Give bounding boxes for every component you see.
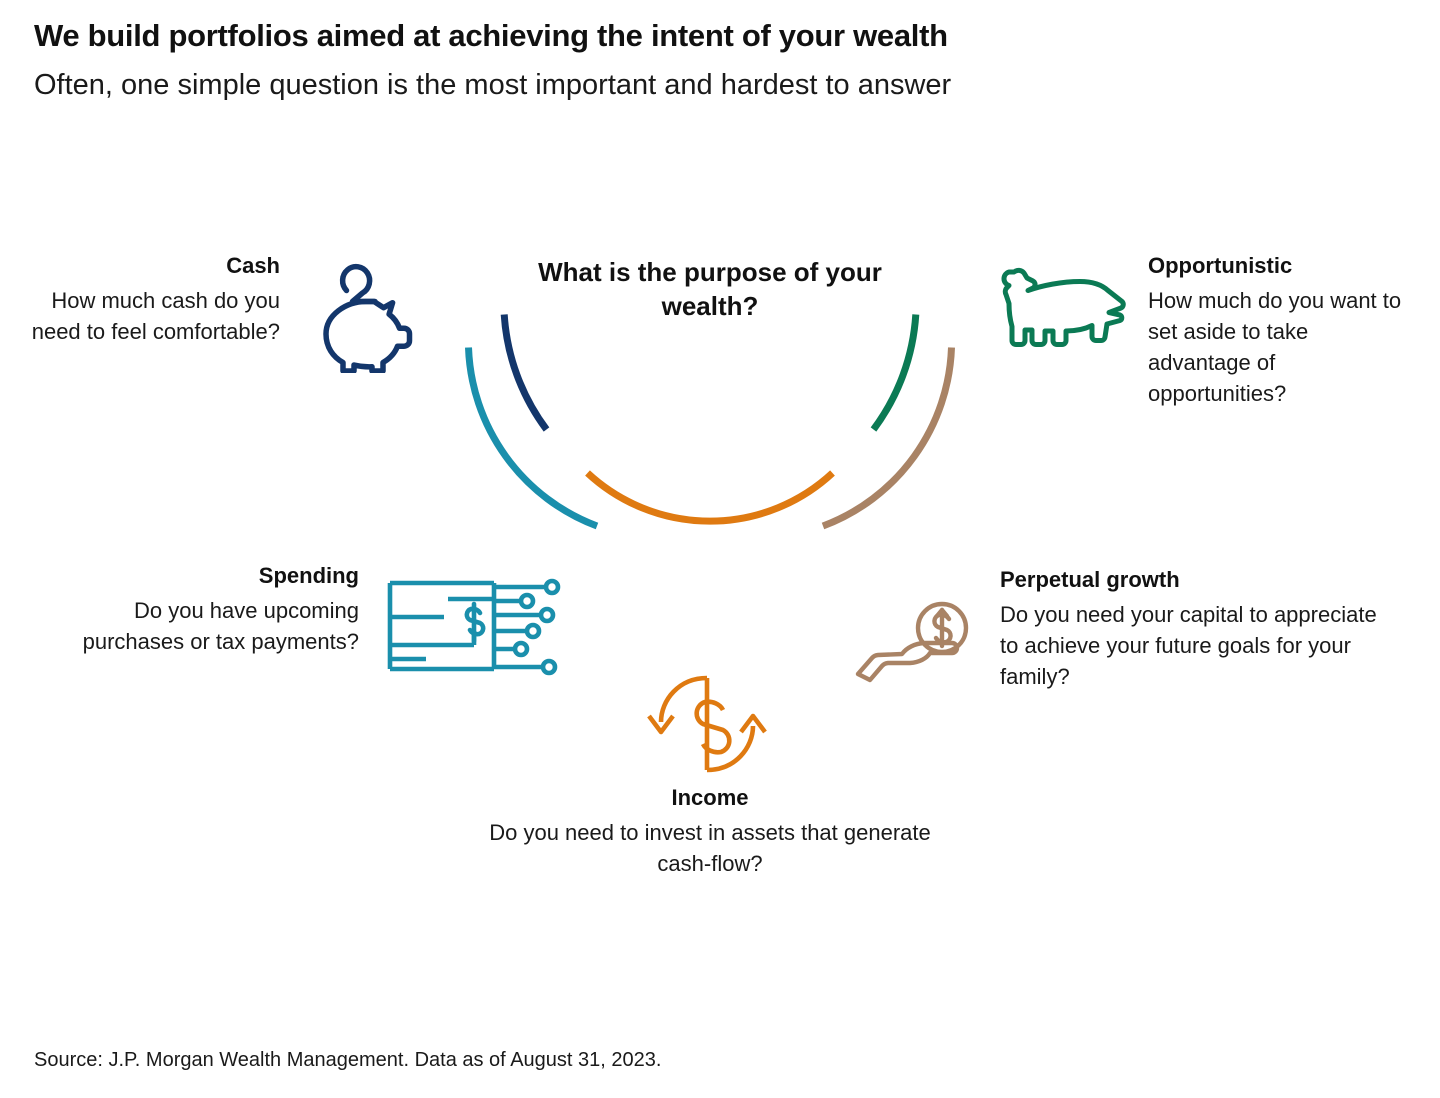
node-cash-label: Cash (14, 252, 280, 281)
node-perpetual-growth-label: Perpetual growth (1000, 566, 1380, 595)
cash-flow-arrows-icon (643, 666, 769, 787)
cash-arc (504, 315, 546, 430)
allocation-network-icon (382, 569, 564, 686)
node-spending-description: Do you have upcoming purchases or tax pa… (54, 595, 359, 657)
node-cash-description: How much cash do you need to feel comfor… (14, 285, 280, 347)
node-income-label: Income (460, 784, 960, 813)
node-opportunistic-description: How much do you want to set aside to tak… (1148, 285, 1408, 410)
node-opportunistic: Opportunistic How much do you want to se… (1148, 252, 1408, 410)
node-income: Income Do you need to invest in assets t… (460, 784, 960, 879)
node-income-description: Do you need to invest in assets that gen… (460, 817, 960, 879)
node-cash: Cash How much cash do you need to feel c… (14, 252, 280, 347)
node-spending-label: Spending (54, 562, 359, 591)
income-arc (588, 473, 833, 521)
node-spending: Spending Do you have upcoming purchases … (54, 562, 359, 657)
node-opportunistic-label: Opportunistic (1148, 252, 1408, 281)
hand-with-coin-icon (854, 596, 986, 699)
arc-ring (0, 0, 1440, 1098)
perpetual-growth-arc (823, 348, 952, 527)
piggy-bank-icon (316, 253, 424, 378)
source-note: Source: J.P. Morgan Wealth Management. D… (34, 1049, 661, 1072)
bull-icon (990, 254, 1130, 359)
spending-arc (469, 348, 598, 527)
wealth-purpose-diagram: What is the purpose of your wealth? Cash… (0, 0, 1440, 1098)
node-perpetual-growth-description: Do you need your capital to appreciate t… (1000, 599, 1380, 693)
center-question: What is the purpose of your wealth? (520, 255, 900, 324)
node-perpetual-growth: Perpetual growth Do you need your capita… (1000, 566, 1380, 692)
opportunistic-arc (874, 315, 916, 430)
